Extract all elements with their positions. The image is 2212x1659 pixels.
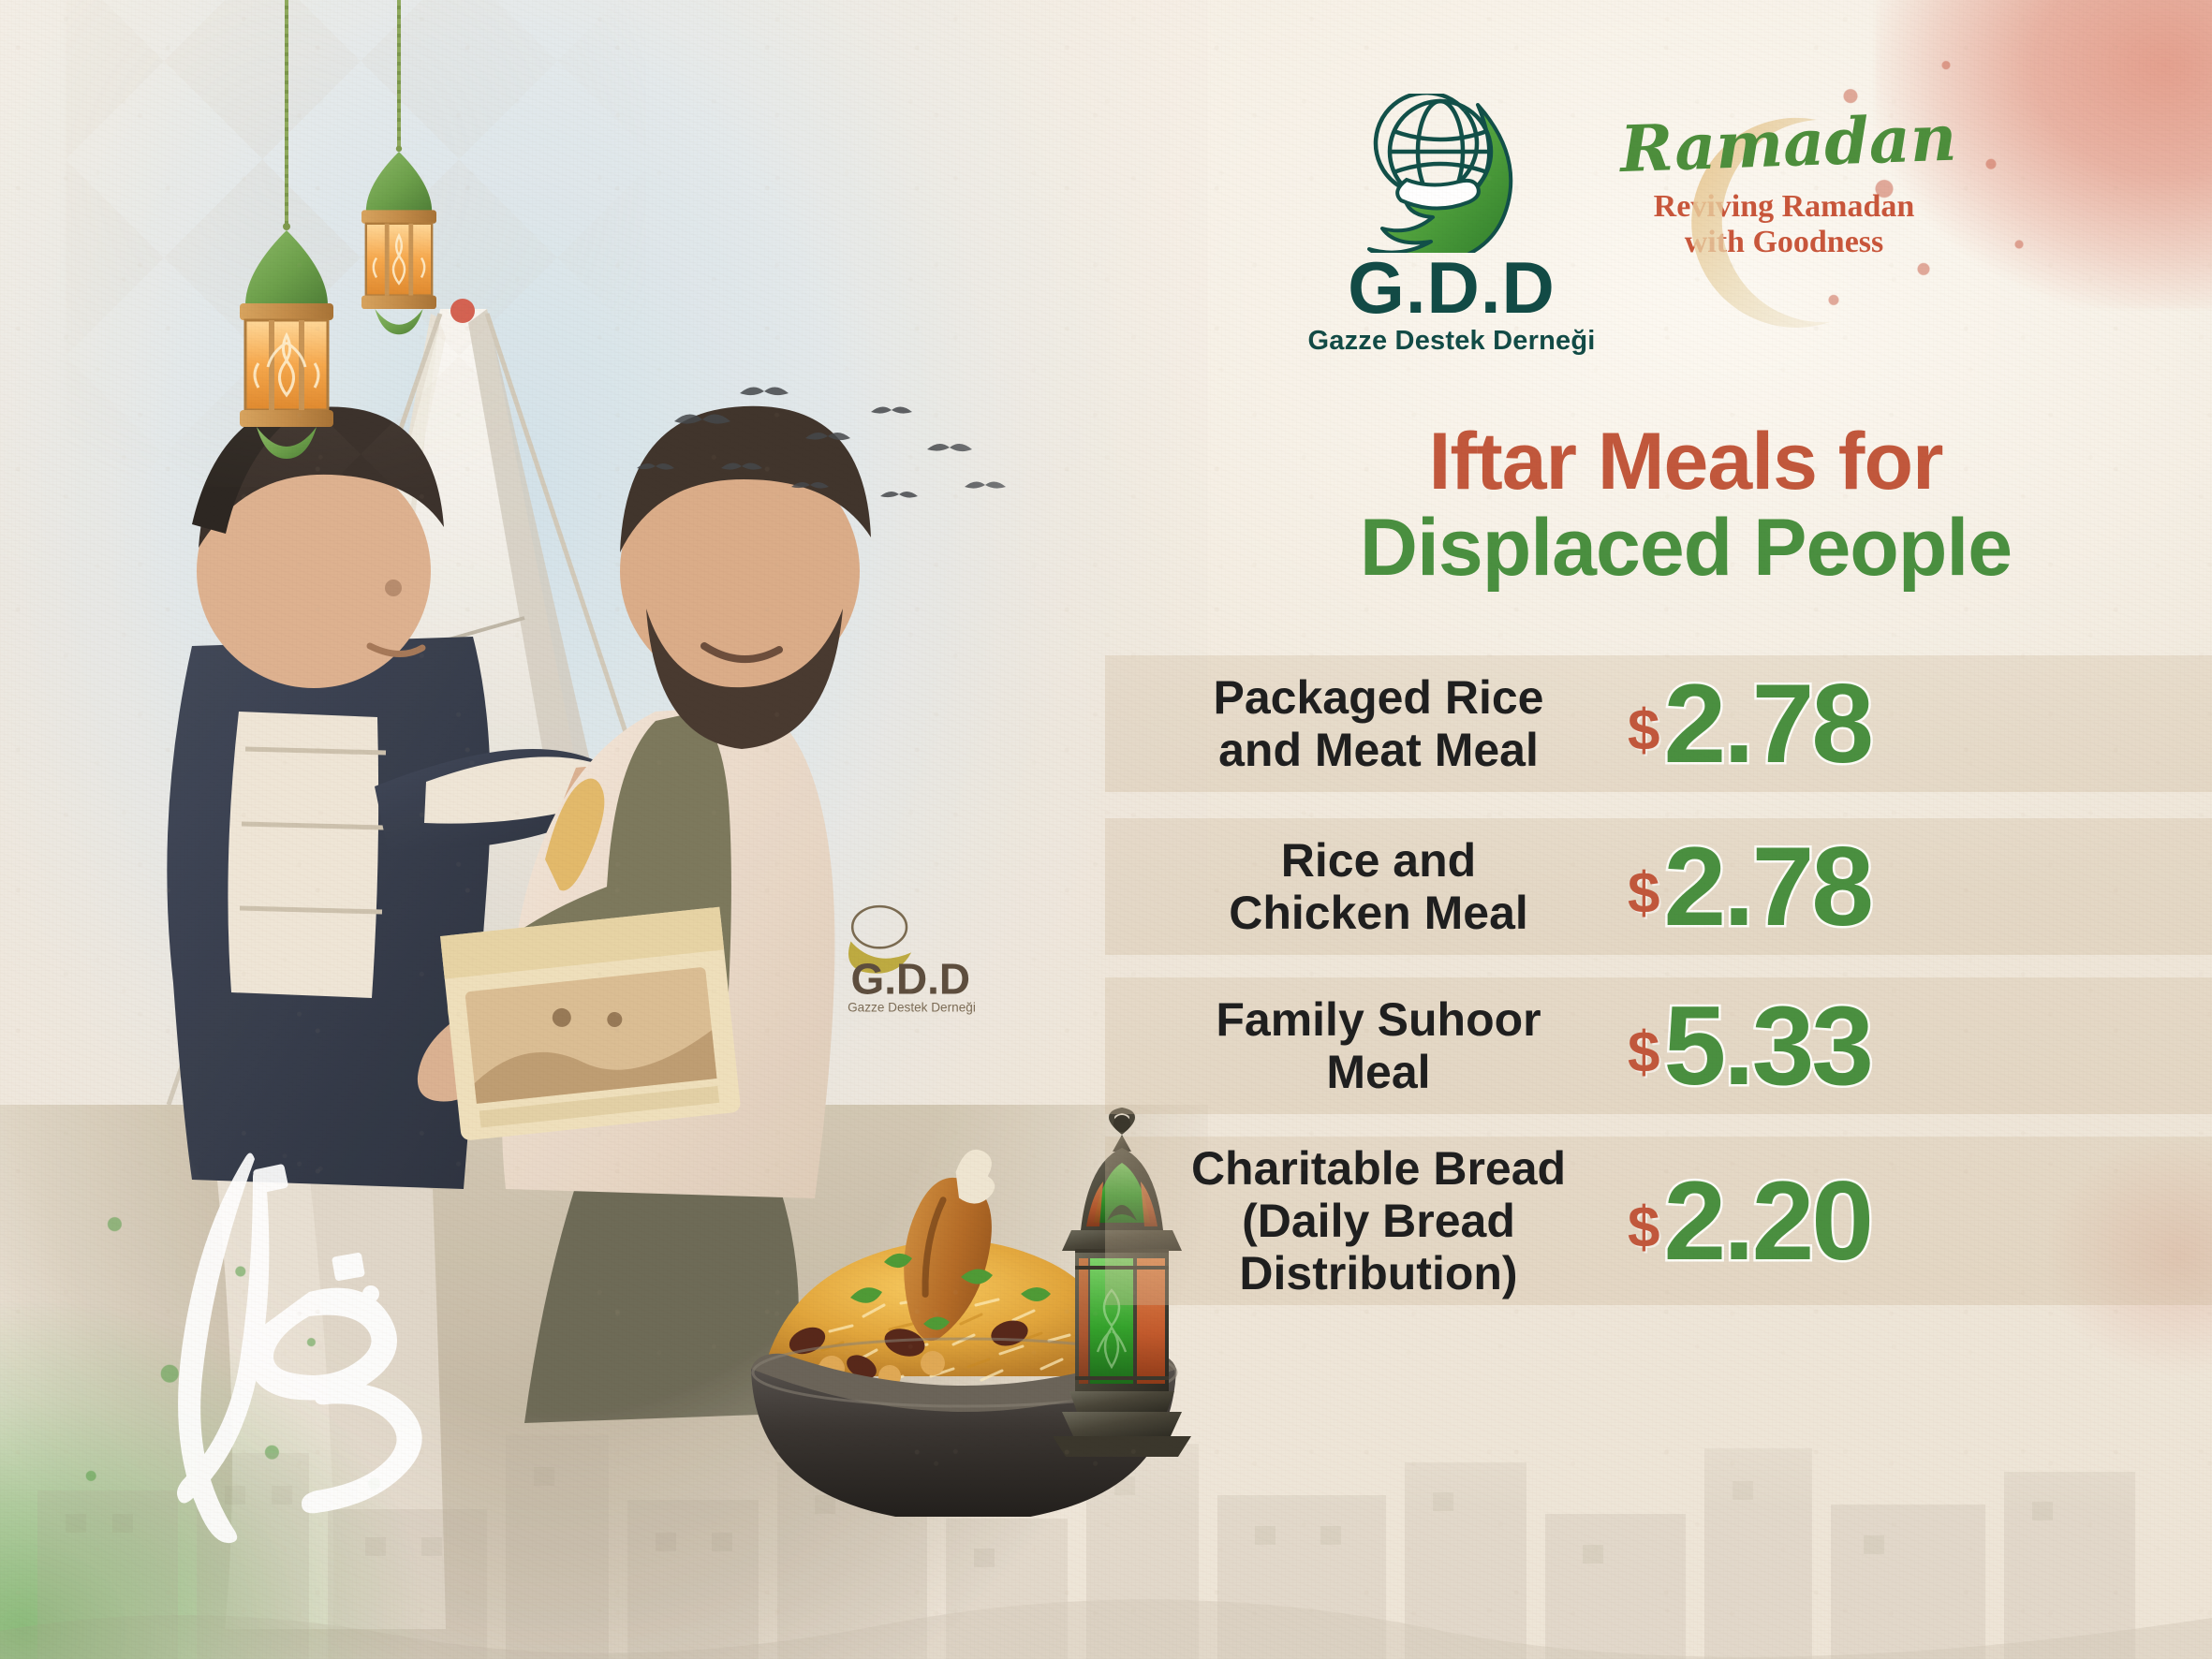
headline-line2: Displaced People: [1171, 504, 2201, 593]
label-line-2: (Daily Bread: [1139, 1195, 1618, 1247]
hanging-lantern-icon-1: [230, 0, 343, 487]
price-value: 2.20: [1663, 1169, 1871, 1272]
poster-canvas: G.D.D Gazze Destek Derneği: [0, 0, 2212, 1659]
label-line-1: Charitable Bread: [1139, 1142, 1618, 1195]
currency-symbol: $: [1628, 865, 1659, 923]
label-line-2: Meal: [1139, 1046, 1618, 1098]
hanging-lantern-icon-2: [354, 0, 444, 374]
ramadan-title: Ramadan: [1619, 107, 1949, 182]
label-line-2: Chicken Meal: [1139, 887, 1618, 939]
price-value: 2.78: [1663, 835, 1871, 938]
price-row-label: Family Suhoor Meal: [1105, 993, 1618, 1098]
price-row-label: Rice and Chicken Meal: [1105, 834, 1618, 939]
globe-leaf-hand-icon: [1367, 94, 1536, 253]
price-row-amount: $ 5.33: [1618, 994, 2212, 1097]
arabic-calligraphy-gazze: [169, 1133, 478, 1582]
label-line-1: Packaged Rice: [1139, 671, 1618, 724]
price-row[interactable]: Packaged Rice and Meat Meal $ 2.78: [1105, 655, 2212, 792]
label-line-3: Distribution): [1139, 1247, 1618, 1299]
price-value: 2.78: [1663, 672, 1871, 775]
currency-symbol: $: [1628, 1024, 1659, 1082]
price-row-amount: $ 2.78: [1618, 672, 2212, 775]
page-title: Iftar Meals for Displaced People: [1171, 419, 2201, 593]
price-value: 5.33: [1663, 994, 1871, 1097]
ramadan-badge: Ramadan Reviving Ramadan with Goodness: [1620, 112, 1948, 328]
price-row[interactable]: Rice and Chicken Meal $ 2.78: [1105, 818, 2212, 955]
price-row-amount: $ 2.20: [1618, 1169, 2212, 1272]
currency-symbol: $: [1628, 1199, 1659, 1257]
label-line-1: Rice and: [1139, 834, 1618, 887]
currency-symbol: $: [1628, 702, 1659, 760]
price-row[interactable]: Charitable Bread (Daily Bread Distributi…: [1105, 1137, 2212, 1305]
label-line-2: and Meat Meal: [1139, 724, 1618, 776]
gdd-logo-block: G.D.D Gazze Destek Derneği: [1302, 94, 1601, 357]
logo-full-name: Gazze Destek Derneği: [1302, 326, 1601, 357]
logo-acronym: G.D.D: [1302, 253, 1601, 322]
price-row[interactable]: Family Suhoor Meal $ 5.33: [1105, 977, 2212, 1114]
price-row-label: Charitable Bread (Daily Bread Distributi…: [1105, 1142, 1618, 1299]
headline-line1: Iftar Meals for: [1171, 419, 2201, 504]
label-line-1: Family Suhoor: [1139, 993, 1618, 1046]
price-list: Packaged Rice and Meat Meal $ 2.78 Rice …: [1105, 655, 2212, 1305]
price-row-amount: $ 2.78: [1618, 835, 2212, 938]
price-row-label: Packaged Rice and Meat Meal: [1105, 671, 1618, 776]
